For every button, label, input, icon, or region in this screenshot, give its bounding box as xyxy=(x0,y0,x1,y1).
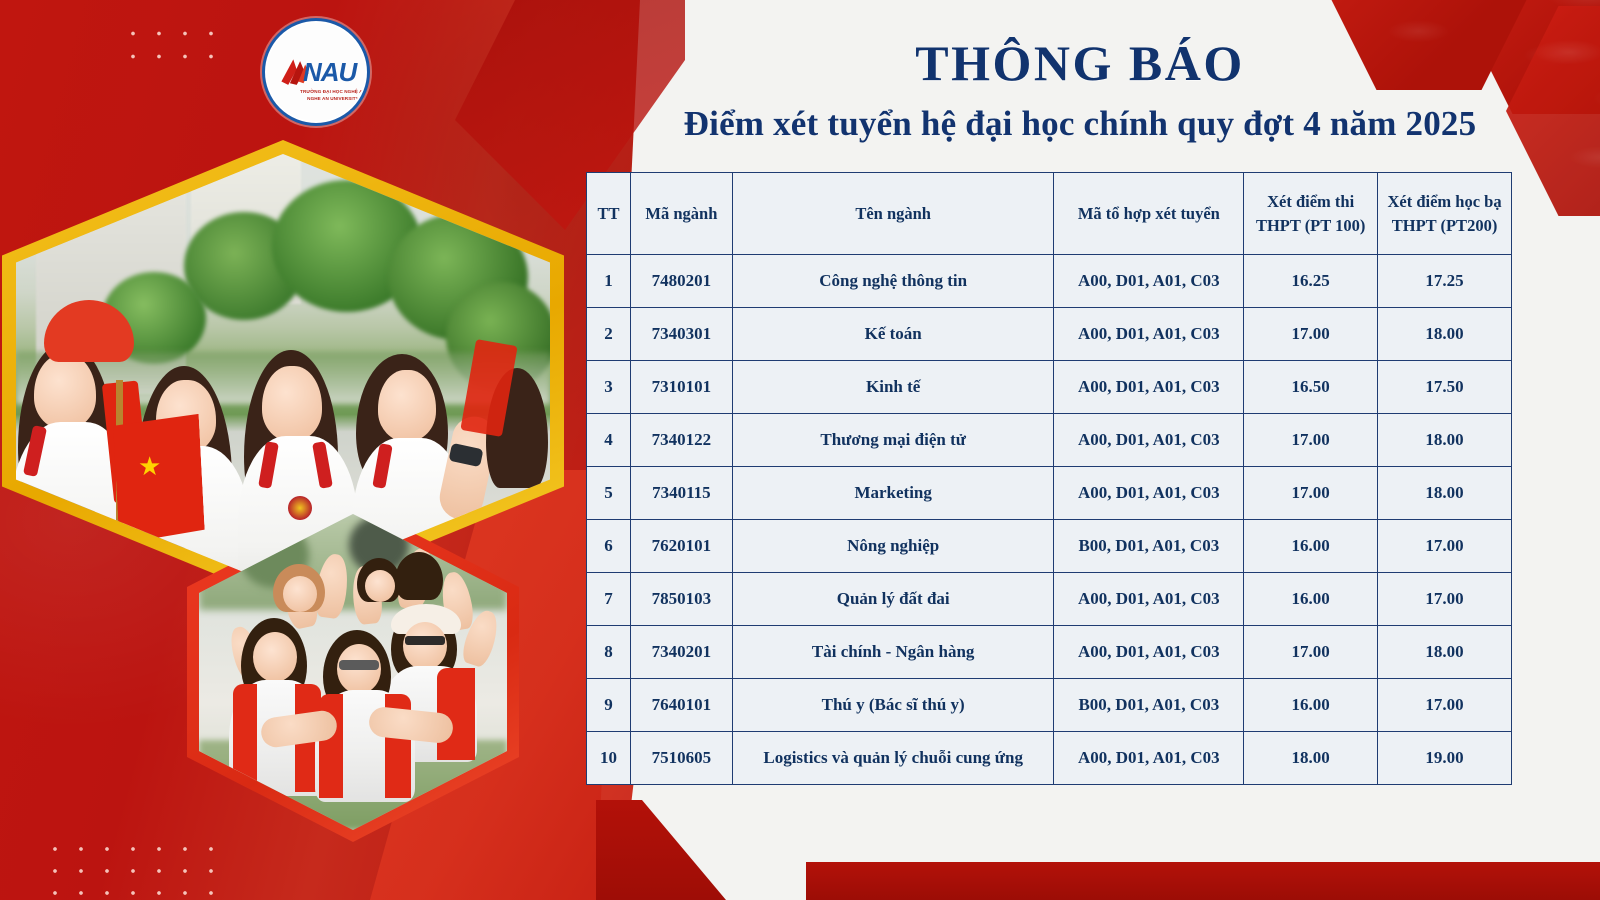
cell-diem-thpt: 17.00 xyxy=(1244,414,1378,467)
cell-diem-thpt: 17.00 xyxy=(1244,626,1378,679)
table-header-row: TT Mã ngành Tên ngành Mã tổ hợp xét tuyể… xyxy=(587,173,1512,255)
cell-ma-to-hop: A00, D01, A01, C03 xyxy=(1054,361,1244,414)
cell-ten-nganh: Thương mại điện tử xyxy=(732,414,1054,467)
table-row: 67620101Nông nghiệpB00, D01, A01, C0316.… xyxy=(587,520,1512,573)
table-row: 107510605Logistics và quản lý chuỗi cung… xyxy=(587,732,1512,785)
cell-ten-nganh: Marketing xyxy=(732,467,1054,520)
cell-tt: 9 xyxy=(587,679,631,732)
cell-diem-thpt: 16.00 xyxy=(1244,520,1378,573)
cell-diem-hoc-ba: 18.00 xyxy=(1378,626,1512,679)
cell-ma-to-hop: A00, D01, A01, C03 xyxy=(1054,732,1244,785)
cell-ma-nganh: 7480201 xyxy=(630,255,732,308)
cell-diem-hoc-ba: 17.00 xyxy=(1378,520,1512,573)
cell-tt: 4 xyxy=(587,414,631,467)
cell-ten-nganh: Công nghệ thông tin xyxy=(732,255,1054,308)
cell-diem-hoc-ba: 17.00 xyxy=(1378,679,1512,732)
col-header-tt: TT xyxy=(587,173,631,255)
col-header-ten-nganh: Tên ngành xyxy=(732,173,1054,255)
cell-ten-nganh: Kế toán xyxy=(732,308,1054,361)
cell-ma-nganh: 7340301 xyxy=(630,308,732,361)
col-header-thpt-line1: Xét điểm thi xyxy=(1244,190,1377,214)
cell-ma-nganh: 7340122 xyxy=(630,414,732,467)
cell-tt: 8 xyxy=(587,626,631,679)
cell-ma-nganh: 7620101 xyxy=(630,520,732,573)
table-row: 97640101Thú y (Bác sĩ thú y)B00, D01, A0… xyxy=(587,679,1512,732)
admission-scores-table: TT Mã ngành Tên ngành Mã tổ hợp xét tuyể… xyxy=(586,172,1512,785)
col-header-thpt-line2: THPT (PT 100) xyxy=(1244,214,1377,238)
cell-diem-thpt: 18.00 xyxy=(1244,732,1378,785)
cell-ten-nganh: Logistics và quản lý chuỗi cung ứng xyxy=(732,732,1054,785)
cell-ma-nganh: 7310101 xyxy=(630,361,732,414)
table-row: 47340122Thương mại điện tửA00, D01, A01,… xyxy=(587,414,1512,467)
cell-ten-nganh: Thú y (Bác sĩ thú y) xyxy=(732,679,1054,732)
col-header-xet-hoc-ba: Xét điểm học bạ THPT (PT200) xyxy=(1378,173,1512,255)
cell-ten-nganh: Kinh tế xyxy=(732,361,1054,414)
col-header-xet-diem-thi: Xét điểm thi THPT (PT 100) xyxy=(1244,173,1378,255)
cell-ma-to-hop: B00, D01, A01, C03 xyxy=(1054,679,1244,732)
cell-ma-to-hop: A00, D01, A01, C03 xyxy=(1054,467,1244,520)
table-row: 87340201Tài chính - Ngân hàngA00, D01, A… xyxy=(587,626,1512,679)
cell-ten-nganh: Tài chính - Ngân hàng xyxy=(732,626,1054,679)
cell-ma-to-hop: A00, D01, A01, C03 xyxy=(1054,626,1244,679)
table-row: 27340301Kế toánA00, D01, A01, C0317.0018… xyxy=(587,308,1512,361)
cell-ma-to-hop: B00, D01, A01, C03 xyxy=(1054,520,1244,573)
cell-tt: 2 xyxy=(587,308,631,361)
cell-ten-nganh: Quản lý đất đai xyxy=(732,573,1054,626)
cell-ma-to-hop: A00, D01, A01, C03 xyxy=(1054,308,1244,361)
cell-ma-nganh: 7340115 xyxy=(630,467,732,520)
cell-diem-thpt: 16.25 xyxy=(1244,255,1378,308)
page-subtitle: Điểm xét tuyển hệ đại học chính quy đợt … xyxy=(600,104,1560,144)
cell-ma-to-hop: A00, D01, A01, C03 xyxy=(1054,414,1244,467)
cell-diem-hoc-ba: 18.00 xyxy=(1378,467,1512,520)
university-logo: NAU TRƯỜNG ĐẠI HỌC NGHỆ AN NGHE AN UNIVE… xyxy=(262,18,370,126)
col-header-ma-to-hop: Mã tổ hợp xét tuyển xyxy=(1054,173,1244,255)
cell-tt: 5 xyxy=(587,467,631,520)
cell-tt: 7 xyxy=(587,573,631,626)
cell-diem-thpt: 16.50 xyxy=(1244,361,1378,414)
table-row: 17480201Công nghệ thông tinA00, D01, A01… xyxy=(587,255,1512,308)
dot-grid-top-left xyxy=(120,22,230,68)
logo-subtitle-vi: TRƯỜNG ĐẠI HỌC NGHỆ AN xyxy=(291,89,365,94)
logo-subtitle-en: NGHE AN UNIVERSITY xyxy=(291,96,365,101)
table-row: 57340115MarketingA00, D01, A01, C0317.00… xyxy=(587,467,1512,520)
cell-diem-hoc-ba: 17.50 xyxy=(1378,361,1512,414)
cell-ten-nganh: Nông nghiệp xyxy=(732,520,1054,573)
page-title: THÔNG BÁO xyxy=(600,34,1560,92)
cell-diem-thpt: 17.00 xyxy=(1244,308,1378,361)
table-row: 77850103Quản lý đất đaiA00, D01, A01, C0… xyxy=(587,573,1512,626)
cell-diem-thpt: 16.00 xyxy=(1244,679,1378,732)
cell-tt: 10 xyxy=(587,732,631,785)
table-row: 37310101Kinh tếA00, D01, A01, C0316.5017… xyxy=(587,361,1512,414)
cell-ma-to-hop: A00, D01, A01, C03 xyxy=(1054,573,1244,626)
cell-diem-hoc-ba: 19.00 xyxy=(1378,732,1512,785)
cell-ma-nganh: 7510605 xyxy=(630,732,732,785)
cell-tt: 1 xyxy=(587,255,631,308)
logo-nau-text: NAU xyxy=(303,57,365,88)
cell-tt: 3 xyxy=(587,361,631,414)
cell-diem-hoc-ba: 17.00 xyxy=(1378,573,1512,626)
cell-diem-hoc-ba: 18.00 xyxy=(1378,308,1512,361)
cell-tt: 6 xyxy=(587,520,631,573)
col-header-hocba-line1: Xét điểm học bạ xyxy=(1378,190,1511,214)
cell-ma-nganh: 7340201 xyxy=(630,626,732,679)
cell-diem-hoc-ba: 17.25 xyxy=(1378,255,1512,308)
cell-diem-hoc-ba: 18.00 xyxy=(1378,414,1512,467)
logo-inner: NAU TRƯỜNG ĐẠI HỌC NGHỆ AN NGHE AN UNIVE… xyxy=(267,23,365,121)
cell-diem-thpt: 16.00 xyxy=(1244,573,1378,626)
poster-canvas: ★ xyxy=(0,0,1600,900)
col-header-ma-nganh: Mã ngành xyxy=(630,173,732,255)
cell-ma-to-hop: A00, D01, A01, C03 xyxy=(1054,255,1244,308)
cell-diem-thpt: 17.00 xyxy=(1244,467,1378,520)
table-body: 17480201Công nghệ thông tinA00, D01, A01… xyxy=(587,255,1512,785)
dot-grid-bottom-left xyxy=(42,838,232,900)
content-area: THÔNG BÁO Điểm xét tuyển hệ đại học chín… xyxy=(600,0,1600,900)
cell-ma-nganh: 7640101 xyxy=(630,679,732,732)
col-header-hocba-line2: THPT (PT200) xyxy=(1378,214,1511,238)
cell-ma-nganh: 7850103 xyxy=(630,573,732,626)
